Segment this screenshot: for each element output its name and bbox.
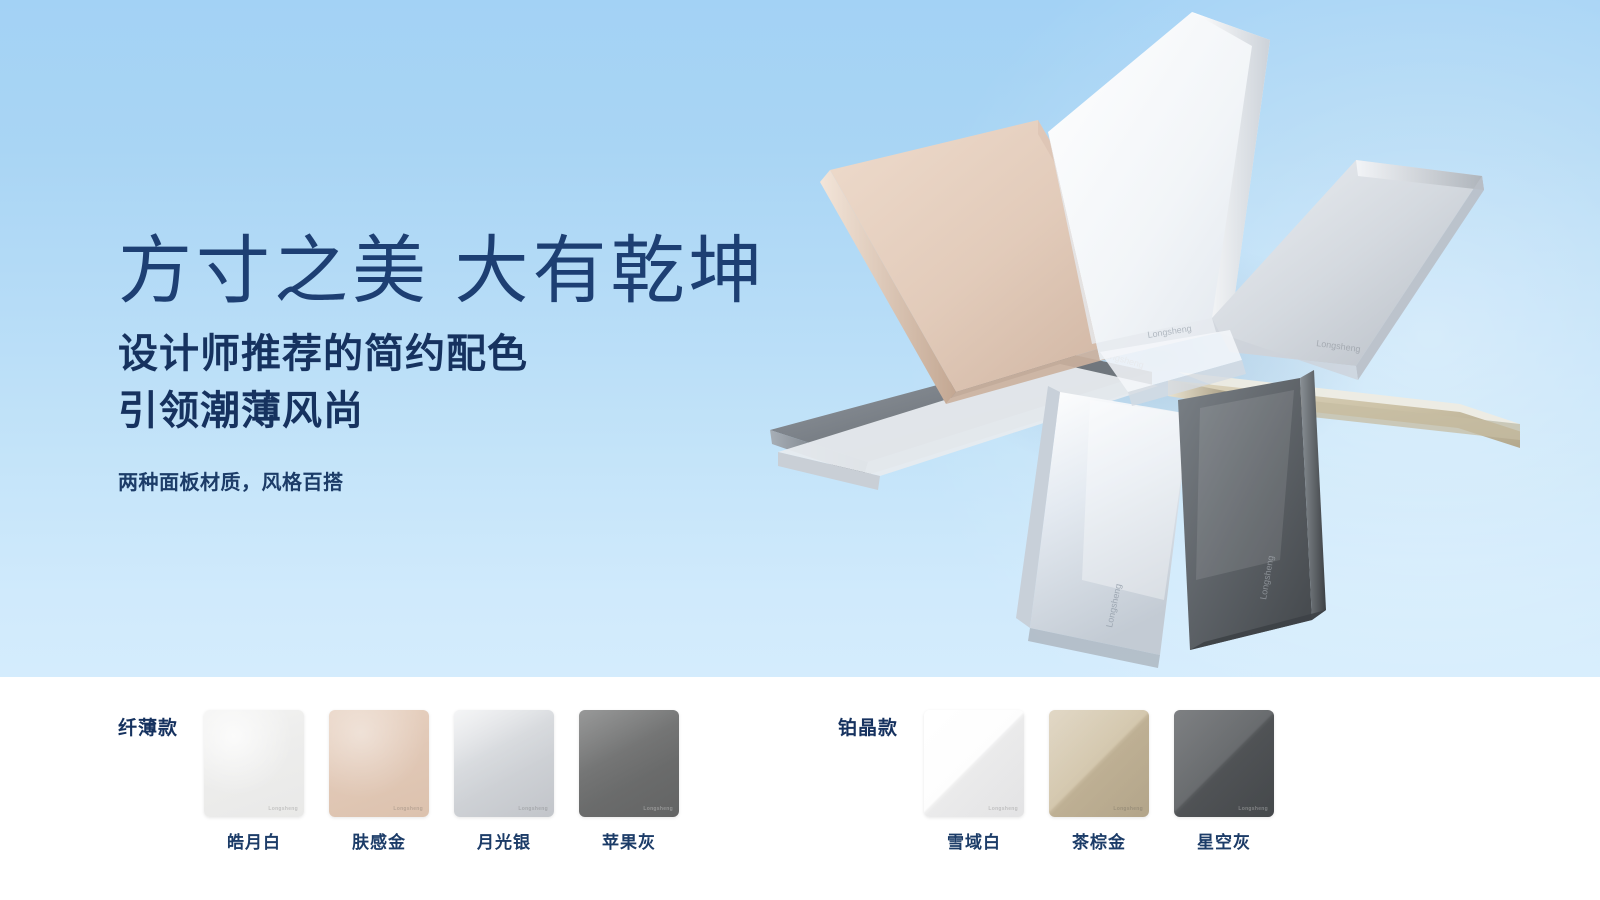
swatch-cell-fuganjin[interactable]: Longsheng 肤感金 <box>329 710 429 853</box>
swatch-row-thin: Longsheng 皓月白 Longsheng 肤感金 Longsheng <box>204 710 679 853</box>
swatch-haoyuebai[interactable]: Longsheng <box>204 710 304 817</box>
swatch-group-label-thin: 纤薄款 <box>118 710 178 740</box>
swatch-label-fuganjin: 肤感金 <box>352 828 406 853</box>
hero-subline-2: 引领潮薄风尚 <box>118 383 838 440</box>
brand-logo-mark: Longsheng <box>393 806 423 812</box>
brand-logo-mark: Longsheng <box>643 806 673 812</box>
swatch-xingkonghui[interactable]: Longsheng <box>1174 710 1274 817</box>
brand-logo-mark: Longsheng <box>518 806 548 812</box>
swatch-label-xueyubai: 雪域白 <box>947 828 1001 853</box>
swatch-group-label-crystal: 铂晶款 <box>838 710 898 740</box>
swatch-gloss <box>204 710 304 817</box>
product-render: Longsheng Longsheng Longsheng <box>760 0 1520 677</box>
product-showcase-page: 方寸之美 大有乾坤 设计师推荐的简约配色 引领潮薄风尚 两种面板材质，风格百搭 <box>0 0 1600 900</box>
brand-logo-mark: Longsheng <box>1113 806 1143 812</box>
swatch-gloss <box>924 710 1024 817</box>
swatch-gloss <box>454 710 554 817</box>
panel-dark-gray: Longsheng <box>1178 370 1326 650</box>
swatch-yueguangyin[interactable]: Longsheng <box>454 710 554 817</box>
brand-logo-mark: Longsheng <box>988 806 1018 812</box>
swatch-label-pingguohui: 苹果灰 <box>602 828 656 853</box>
swatch-fuganjin[interactable]: Longsheng <box>329 710 429 817</box>
swatch-row-crystal: Longsheng 雪域白 Longsheng 茶棕金 Longsheng <box>924 710 1274 853</box>
swatch-xueyubai[interactable]: Longsheng <box>924 710 1024 817</box>
swatch-cell-yueguangyin[interactable]: Longsheng 月光银 <box>454 710 554 853</box>
swatch-label-haoyuebai: 皓月白 <box>227 828 281 853</box>
swatch-cell-xingkonghui[interactable]: Longsheng 星空灰 <box>1174 710 1274 853</box>
swatch-cell-xueyubai[interactable]: Longsheng 雪域白 <box>924 710 1024 853</box>
swatch-gloss <box>1174 710 1274 817</box>
swatch-gloss <box>579 710 679 817</box>
hero-subline-1: 设计师推荐的简约配色 <box>118 326 838 383</box>
hero-banner: 方寸之美 大有乾坤 设计师推荐的简约配色 引领潮薄风尚 两种面板材质，风格百搭 <box>0 0 1600 677</box>
page-title: 方寸之美 大有乾坤 <box>118 232 838 310</box>
hero-copy-block: 方寸之美 大有乾坤 设计师推荐的简约配色 引领潮薄风尚 两种面板材质，风格百搭 <box>118 232 838 495</box>
swatch-chazongjin[interactable]: Longsheng <box>1049 710 1149 817</box>
swatch-gloss <box>1049 710 1149 817</box>
finish-swatch-section: 纤薄款 Longsheng 皓月白 Longsheng 肤感金 <box>0 677 1600 900</box>
brand-logo-mark: Longsheng <box>268 806 298 812</box>
swatch-pingguohui[interactable]: Longsheng <box>579 710 679 817</box>
swatch-label-chazongjin: 茶棕金 <box>1072 828 1126 853</box>
swatch-cell-chazongjin[interactable]: Longsheng 茶棕金 <box>1049 710 1149 853</box>
swatch-cell-haoyuebai[interactable]: Longsheng 皓月白 <box>204 710 304 853</box>
hero-tagline: 两种面板材质，风格百搭 <box>118 466 838 495</box>
swatch-label-xingkonghui: 星空灰 <box>1197 828 1251 853</box>
swatch-group-crystal: 铂晶款 Longsheng 雪域白 Longsheng 茶棕金 <box>838 710 1274 853</box>
swatch-label-yueguangyin: 月光银 <box>477 828 531 853</box>
swatch-cell-pingguohui[interactable]: Longsheng 苹果灰 <box>579 710 679 853</box>
swatch-gloss <box>329 710 429 817</box>
swatch-group-thin: 纤薄款 Longsheng 皓月白 Longsheng 肤感金 <box>118 710 679 853</box>
brand-logo-mark: Longsheng <box>1238 806 1268 812</box>
